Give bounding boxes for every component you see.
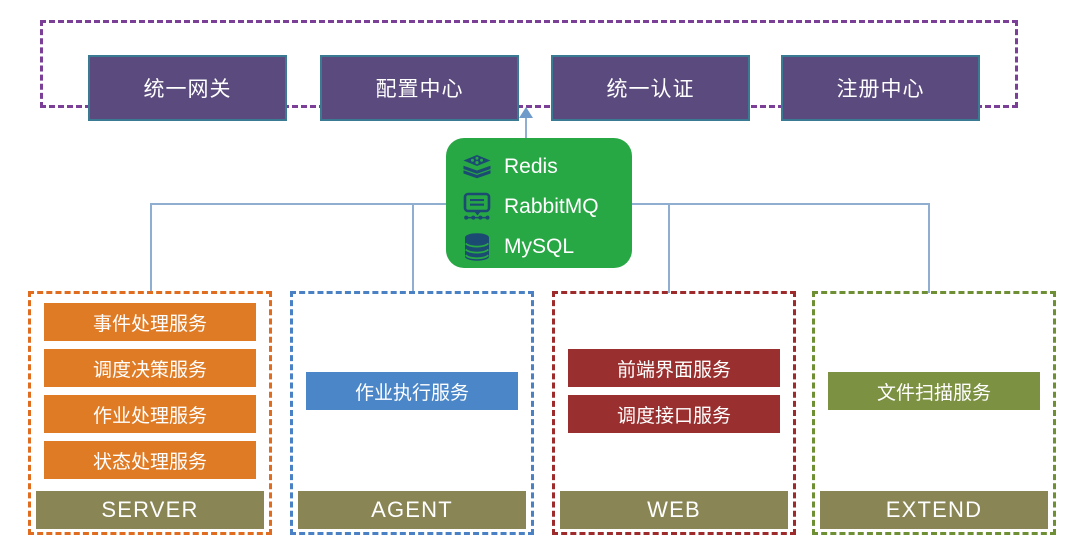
column-tag-web: WEB [560, 491, 788, 529]
column-extend: 文件扫描服务 EXTEND [812, 291, 1056, 535]
service-box[interactable]: 调度决策服务 [44, 349, 256, 387]
service-label: 作业执行服务 [355, 378, 469, 405]
column-services: 作业执行服务 [290, 291, 534, 491]
service-label: 作业处理服务 [93, 401, 207, 428]
redis-layers-icon [460, 151, 494, 183]
gateway-box-unified-auth[interactable]: 统一认证 [551, 55, 750, 121]
service-label: 调度接口服务 [617, 401, 731, 428]
connector-bus-left [150, 203, 446, 205]
service-label: 状态处理服务 [93, 447, 207, 474]
mysql-database-icon [460, 231, 494, 263]
connector-leg-extend [928, 203, 930, 293]
middleware-label: RabbitMQ [504, 195, 599, 219]
column-tag-label: AGENT [371, 497, 453, 523]
connector-middleware-to-gateway [525, 118, 527, 140]
gateway-box-config-center[interactable]: 配置中心 [320, 55, 519, 121]
column-server: 事件处理服务 调度决策服务 作业处理服务 状态处理服务 SERVER [28, 291, 272, 535]
gateway-box-label: 统一网关 [144, 73, 232, 103]
service-label: 调度决策服务 [93, 355, 207, 382]
architecture-diagram: 统一网关 配置中心 统一认证 注册中心 [0, 0, 1080, 545]
rabbitmq-message-icon [460, 191, 494, 223]
service-box[interactable]: 调度接口服务 [568, 395, 780, 433]
column-tag-label: SERVER [101, 497, 198, 523]
connector-leg-server [150, 203, 152, 293]
service-box[interactable]: 作业处理服务 [44, 395, 256, 433]
column-tag-agent: AGENT [298, 491, 526, 529]
connector-bus-right [632, 203, 928, 205]
service-box[interactable]: 文件扫描服务 [828, 372, 1040, 410]
connector-leg-web [668, 203, 670, 293]
column-services: 前端界面服务 调度接口服务 [552, 291, 796, 491]
gateway-box-label: 统一认证 [607, 73, 695, 103]
service-box[interactable]: 状态处理服务 [44, 441, 256, 479]
service-box[interactable]: 作业执行服务 [306, 372, 518, 410]
column-tag-extend: EXTEND [820, 491, 1048, 529]
arrow-up-icon [519, 107, 533, 118]
service-label: 事件处理服务 [93, 309, 207, 336]
gateway-box-label: 配置中心 [376, 73, 464, 103]
middleware-row-mysql: MySQL [460, 228, 632, 265]
connector-leg-agent [412, 203, 414, 293]
column-tag-server: SERVER [36, 491, 264, 529]
service-label: 文件扫描服务 [877, 378, 991, 405]
middleware-box[interactable]: Redis RabbitMQ [446, 138, 632, 268]
gateway-box-label: 注册中心 [837, 73, 925, 103]
middleware-label: MySQL [504, 235, 574, 259]
middleware-row-rabbitmq: RabbitMQ [460, 188, 632, 225]
column-web: 前端界面服务 调度接口服务 WEB [552, 291, 796, 535]
column-agent: 作业执行服务 AGENT [290, 291, 534, 535]
middleware-label: Redis [504, 155, 558, 179]
column-tag-label: EXTEND [886, 497, 982, 523]
column-services: 事件处理服务 调度决策服务 作业处理服务 状态处理服务 [28, 291, 272, 491]
column-tag-label: WEB [647, 497, 701, 523]
service-label: 前端界面服务 [617, 355, 731, 382]
gateway-box-unified-gateway[interactable]: 统一网关 [88, 55, 287, 121]
column-services: 文件扫描服务 [812, 291, 1056, 491]
service-box[interactable]: 前端界面服务 [568, 349, 780, 387]
gateway-zone: 统一网关 配置中心 统一认证 注册中心 [40, 20, 1018, 108]
gateway-box-registry-center[interactable]: 注册中心 [781, 55, 980, 121]
service-box[interactable]: 事件处理服务 [44, 303, 256, 341]
middleware-row-redis: Redis [460, 148, 632, 185]
